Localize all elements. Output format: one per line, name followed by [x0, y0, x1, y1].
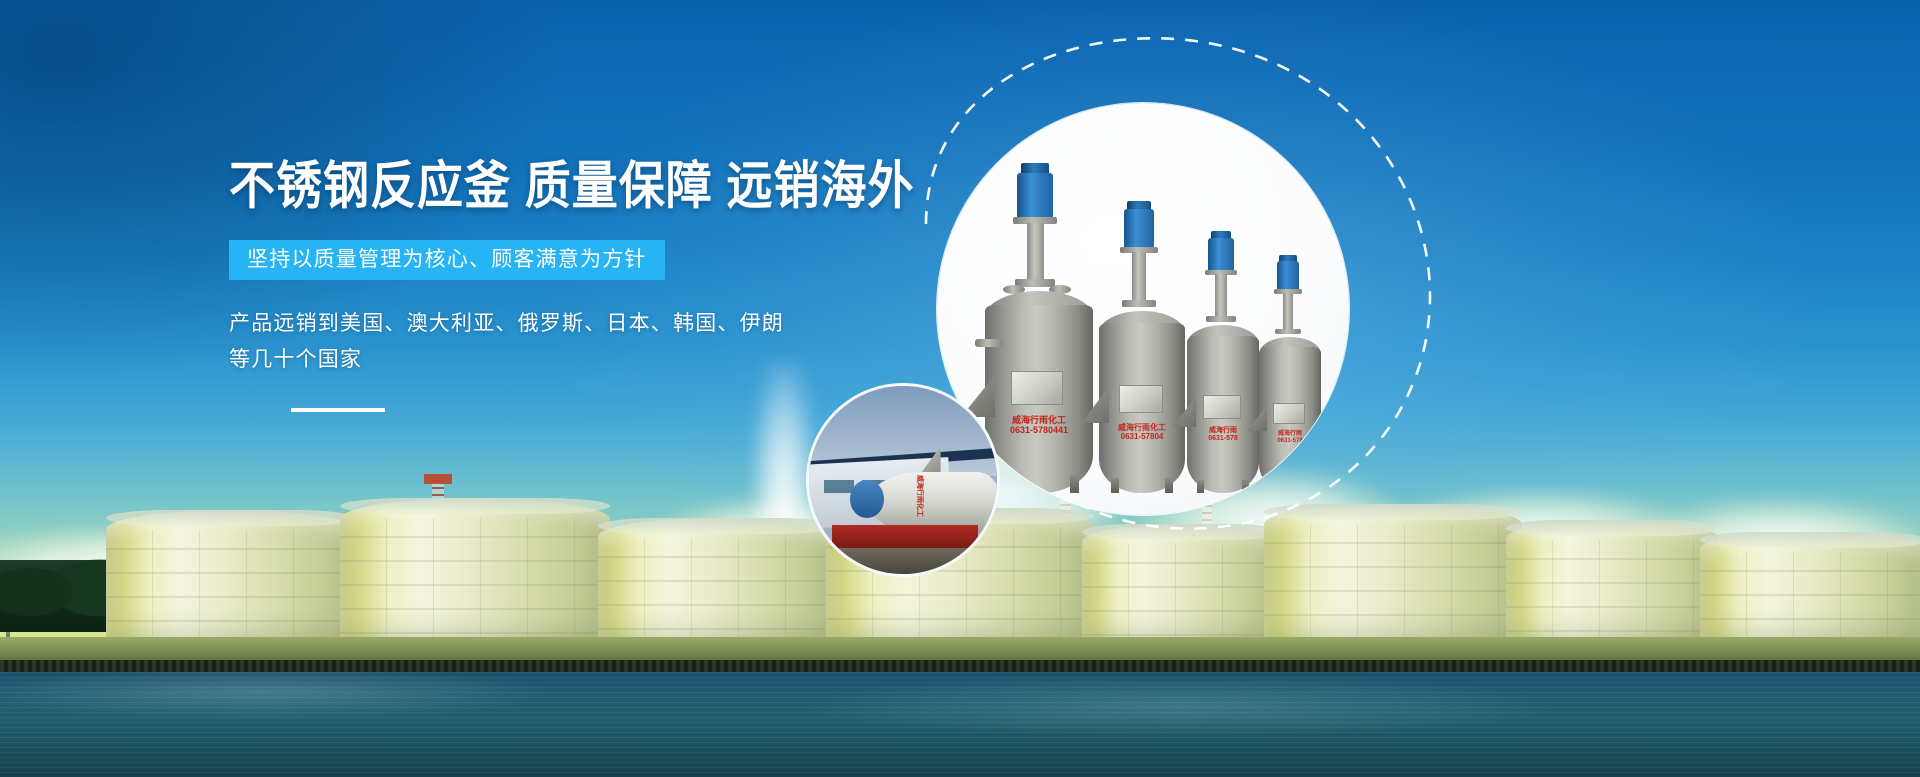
tagline-badge: 坚持以质量管理为核心、顾客满意为方针 [229, 240, 665, 280]
vessel-label-line1: 威海行雨 [1209, 427, 1237, 434]
reactor-vessel: 威海行雨化工 0631-57804 [1099, 201, 1185, 493]
inset-window [824, 480, 854, 493]
vessel-label-line2: 0631-578 [1277, 438, 1302, 444]
water-reflection [0, 672, 1920, 777]
hero-banner: 威海行雨化工 0631-5780441 威海行雨化工 0631-57804 [0, 0, 1920, 777]
page-title: 不锈钢反应釜 质量保障 远销海外 [229, 160, 929, 212]
vessel-label-line1: 威海行雨 [1278, 431, 1302, 437]
vessel-label-line1: 威海行雨化工 [1118, 423, 1166, 432]
storage-tank [1506, 520, 1718, 650]
inset-vessel-label: 威海行雨化工 [915, 475, 925, 517]
vessel-label-line1: 威海行雨化工 [1012, 415, 1066, 425]
vessel-label-line2: 0631-578 [1208, 435, 1238, 442]
inset-red-trailer [832, 525, 979, 548]
divider-rule [291, 408, 385, 412]
description-paragraph: 产品远销到美国、澳大利亚、俄罗斯、日本、韩国、伊朗 等几十个国家 [229, 306, 929, 378]
reactor-vessel: 威海行雨 0631-578 [1187, 231, 1259, 493]
product-photo-circle[interactable]: 威海行雨化工 0631-5780441 威海行雨化工 0631-57804 [937, 103, 1349, 515]
description-line-2: 等几十个国家 [229, 342, 929, 378]
description-line-1: 产品远销到美国、澳大利亚、俄罗斯、日本、韩国、伊朗 [229, 306, 929, 342]
factory-photo-circle[interactable]: 威海行雨化工 [806, 383, 1000, 577]
inset-vessel-motor [850, 480, 884, 518]
storage-tank [1700, 532, 1920, 650]
reactor-vessel: 威海行雨 0631-578 [1259, 255, 1321, 493]
storage-tank [598, 518, 838, 650]
storage-tank [106, 510, 356, 650]
hero-copy-block: 不锈钢反应釜 质量保障 远销海外 坚持以质量管理为核心、顾客满意为方针 产品远销… [229, 160, 929, 412]
vessel-label-line2: 0631-57804 [1121, 432, 1164, 441]
vessel-label-line2: 0631-5780441 [1010, 425, 1068, 435]
inset-ground [809, 548, 997, 574]
storage-tank [340, 498, 610, 650]
inset-horizontal-vessel [869, 472, 1000, 532]
reactor-vessel: 威海行雨化工 0631-5780441 [985, 163, 1093, 493]
